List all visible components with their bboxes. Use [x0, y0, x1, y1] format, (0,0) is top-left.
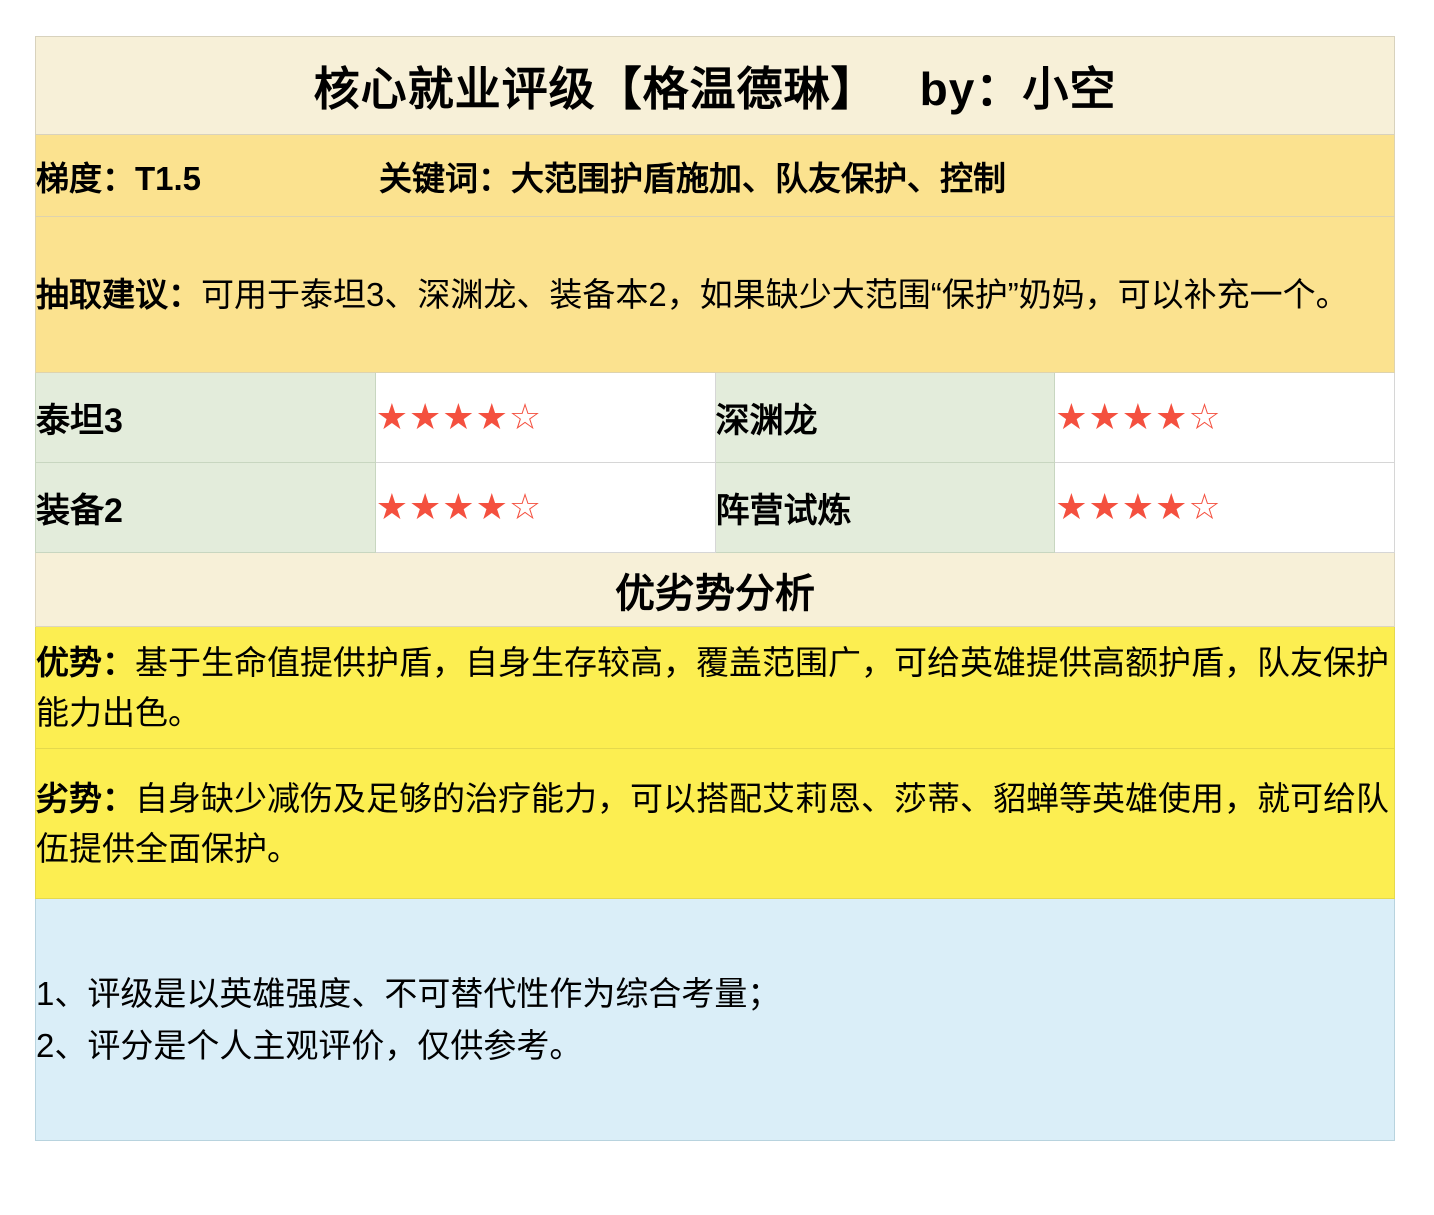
star-rating-icon: ★★★★☆ [1055, 397, 1221, 438]
advice-row: 抽取建议：可用于泰坦3、深渊龙、装备本2，如果缺少大范围“保护”奶妈，可以补充一… [36, 217, 1395, 373]
pros-cell: 优势：基于生命值提供护盾，自身生存较高，覆盖范围广，可给英雄提供高额护盾，队友保… [36, 627, 1395, 749]
rating-name-gear2: 装备2 [36, 463, 376, 553]
rating-row: 装备2 ★★★★☆ 阵营试炼 ★★★★☆ [36, 463, 1395, 553]
cons-lead-label: 劣势： [36, 780, 135, 817]
cons-row: 劣势：自身缺少减伤及足够的治疗能力，可以搭配艾莉恩、莎蒂、貂蝉等英雄使用，就可给… [36, 749, 1395, 899]
title-author-text: by：小空 [920, 53, 1117, 119]
rating-stars-titan3: ★★★★☆ [375, 373, 715, 463]
tier-keywords-inner: 梯度：T1.5 关键词：大范围护盾施加、队友保护、控制 [36, 152, 1394, 200]
title-main-text: 核心就业评级【格温德琳】 [314, 63, 878, 115]
rating-stars-abyssdragon: ★★★★☆ [1055, 373, 1395, 463]
pros-lead-label: 优势： [36, 644, 135, 681]
title-row: 核心就业评级【格温德琳】by：小空 [36, 37, 1395, 135]
star-rating-icon: ★★★★☆ [376, 397, 542, 438]
star-rating-icon: ★★★★☆ [1055, 487, 1221, 528]
card-table: 核心就业评级【格温德琳】by：小空 梯度：T1.5 关键词：大范围护盾施加、队友… [35, 36, 1395, 1141]
cons-cell: 劣势：自身缺少减伤及足够的治疗能力，可以搭配艾莉恩、莎蒂、貂蝉等英雄使用，就可给… [36, 749, 1395, 899]
rating-name-factiontrial: 阵营试炼 [715, 463, 1055, 553]
advice-body-text: 可用于泰坦3、深渊龙、装备本2，如果缺少大范围“保护”奶妈，可以补充一个。 [201, 276, 1349, 313]
hero-rating-card: 核心就业评级【格温德琳】by：小空 梯度：T1.5 关键词：大范围护盾施加、队友… [35, 36, 1395, 1179]
pros-row: 优势：基于生命值提供护盾，自身生存较高，覆盖范围广，可给英雄提供高额护盾，队友保… [36, 627, 1395, 749]
tier-label: 梯度：T1.5 [36, 152, 201, 200]
pros-body-text: 基于生命值提供护盾，自身生存较高，覆盖范围广，可给英雄提供高额护盾，队友保护能力… [36, 644, 1389, 731]
notes-row: 1、评级是以英雄强度、不可替代性作为综合考量； 2、评分是个人主观评价，仅供参考… [36, 899, 1395, 1141]
page-title: 核心就业评级【格温德琳】by：小空 [36, 37, 1395, 135]
rating-name-abyssdragon: 深渊龙 [715, 373, 1055, 463]
note-line-2: 2、评分是个人主观评价，仅供参考。 [36, 1020, 1394, 1071]
advice-lead-label: 抽取建议： [36, 276, 201, 313]
rating-name-titan3: 泰坦3 [36, 373, 376, 463]
notes-cell: 1、评级是以英雄强度、不可替代性作为综合考量； 2、评分是个人主观评价，仅供参考… [36, 899, 1395, 1141]
tier-keywords-cell: 梯度：T1.5 关键词：大范围护盾施加、队友保护、控制 [36, 135, 1395, 217]
star-rating-icon: ★★★★☆ [376, 487, 542, 528]
cons-body-text: 自身缺少减伤及足够的治疗能力，可以搭配艾莉恩、莎蒂、貂蝉等英雄使用，就可给队伍提… [36, 780, 1389, 867]
analysis-section-header: 优劣势分析 [36, 553, 1395, 627]
rating-stars-factiontrial: ★★★★☆ [1055, 463, 1395, 553]
analysis-header-row: 优劣势分析 [36, 553, 1395, 627]
rating-row: 泰坦3 ★★★★☆ 深渊龙 ★★★★☆ [36, 373, 1395, 463]
note-line-1: 1、评级是以英雄强度、不可替代性作为综合考量； [36, 968, 1394, 1019]
advice-cell: 抽取建议：可用于泰坦3、深渊龙、装备本2，如果缺少大范围“保护”奶妈，可以补充一… [36, 217, 1395, 373]
keywords-label: 关键词：大范围护盾施加、队友保护、控制 [379, 152, 1006, 200]
tier-row: 梯度：T1.5 关键词：大范围护盾施加、队友保护、控制 [36, 135, 1395, 217]
rating-stars-gear2: ★★★★☆ [375, 463, 715, 553]
